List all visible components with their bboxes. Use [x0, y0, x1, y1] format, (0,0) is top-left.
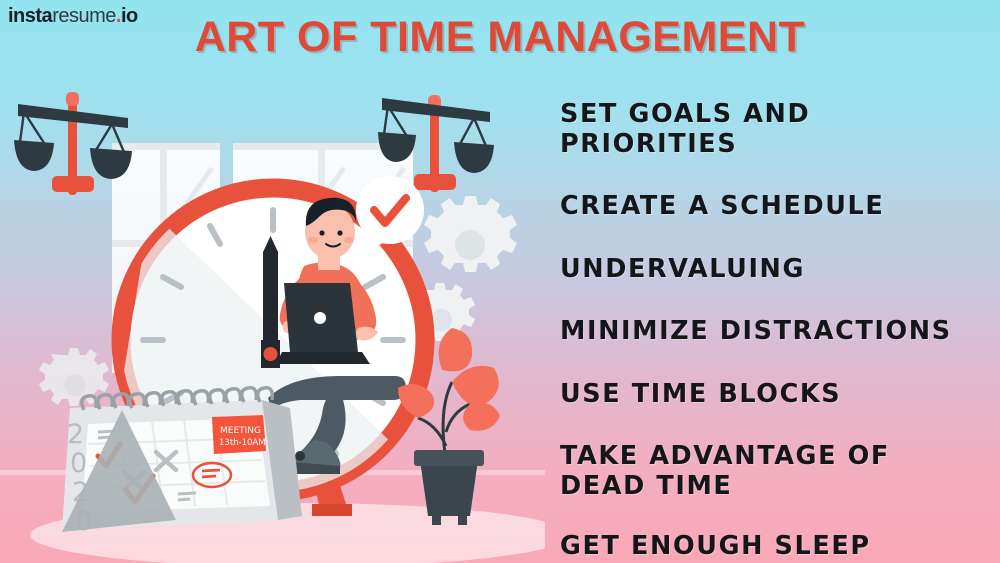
brand-logo-insta: insta [8, 5, 52, 27]
list-item: CREATE A SCHEDULE [560, 192, 980, 222]
sticky-note-line2: 13th-10AM [219, 438, 266, 448]
pencil [261, 236, 280, 368]
gear-icon-large [424, 196, 517, 272]
brand-logo-resume: resume [52, 5, 116, 27]
svg-text:0: 0 [70, 448, 87, 479]
svg-text:2: 2 [67, 419, 84, 450]
sticky-note-line1: MEETING [220, 426, 261, 436]
list-item: USE TIME BLOCKS [560, 380, 980, 410]
list-item: TAKE ADVANTAGE OF DEAD TIME [560, 442, 980, 501]
list-item: UNDERVALUING [560, 255, 980, 285]
page-title: ART OF TIME MANAGEMENT [140, 13, 860, 62]
brand-logo[interactable]: instaresume.io [8, 5, 138, 28]
list-item: GET ENOUGH SLEEP [560, 532, 980, 562]
list-item: MINIMIZE DISTRACTIONS [560, 317, 980, 347]
list-item: SET GOALS AND PRIORITIES [560, 100, 980, 159]
tips-list: SET GOALS AND PRIORITIES CREATE A SCHEDU… [560, 100, 980, 563]
brand-logo-tld: io [121, 5, 138, 27]
illustration: MEETING 13th-10AM 2 0 2 0 [0, 0, 545, 563]
sticky-note: MEETING 13th-10AM [212, 415, 266, 454]
